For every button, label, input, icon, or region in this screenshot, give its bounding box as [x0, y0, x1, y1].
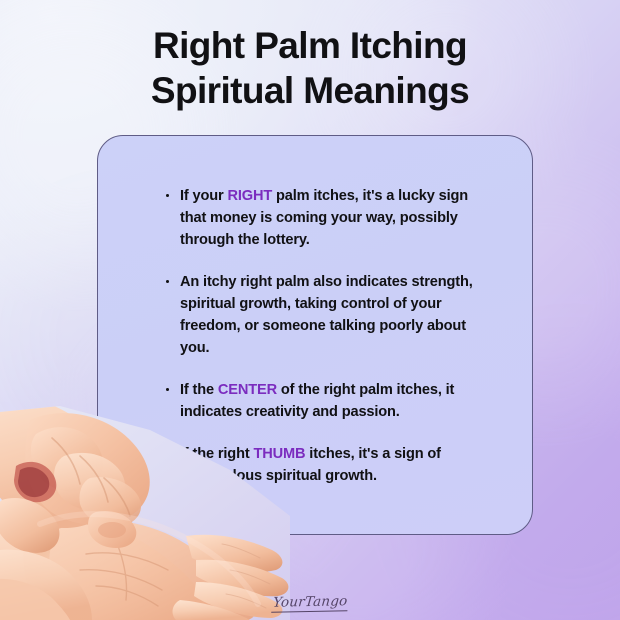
bullet-text-run: An itchy right palm also indicates stren…: [180, 274, 473, 356]
page-title: Right Palm Itching Spiritual Meanings: [0, 23, 620, 113]
highlighted-keyword: CENTER: [218, 382, 277, 398]
watermark: YourTango: [0, 593, 620, 612]
yourtango-logo: YourTango: [271, 594, 349, 613]
title-line-2: Spiritual Meanings: [0, 68, 620, 113]
bullet-dot-icon: [166, 194, 169, 197]
meaning-bullet: If your RIGHT palm itches, it's a lucky …: [166, 185, 486, 251]
bullet-text-run: If your: [180, 188, 227, 204]
title-line-1: Right Palm Itching: [0, 23, 620, 68]
hand-scratching-palm-photo: [0, 404, 290, 620]
poster-canvas: Right Palm Itching Spiritual Meanings If…: [0, 0, 620, 620]
highlighted-keyword: RIGHT: [227, 188, 272, 204]
bullet-text-run: If the: [180, 382, 218, 398]
bullet-dot-icon: [166, 388, 169, 391]
bullet-dot-icon: [166, 280, 169, 283]
meaning-bullet: An itchy right palm also indicates stren…: [166, 271, 486, 359]
